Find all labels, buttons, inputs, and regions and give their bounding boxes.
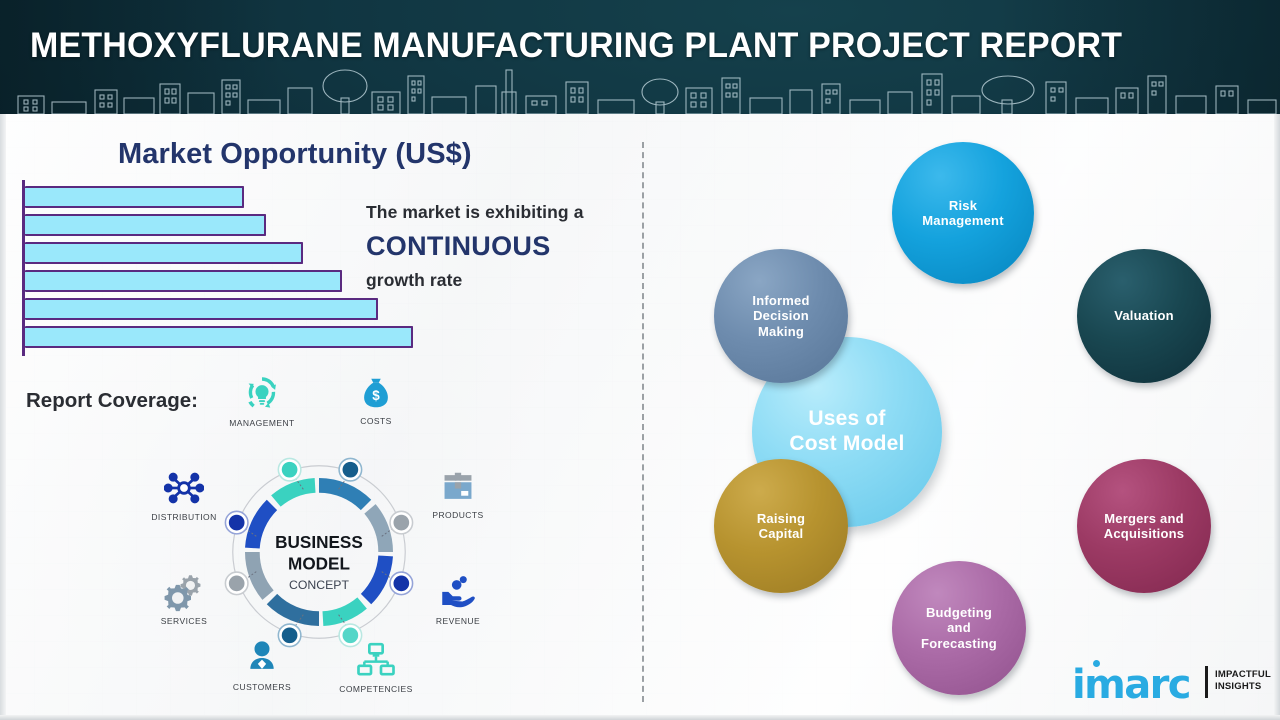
org-network-icon <box>356 640 396 680</box>
coverage-item-revenue[interactable]: REVENUE <box>410 570 506 626</box>
raising-line-1: Raising <box>751 511 811 526</box>
node-raising-capital[interactable]: Raising Capital <box>714 459 848 593</box>
coverage-label-products: PRODUCTS <box>410 510 506 520</box>
center-line-2: Cost Model <box>783 432 910 457</box>
bar-4 <box>25 270 342 292</box>
wheel-center-line-1: BUSINESS <box>275 532 363 552</box>
network-nodes-icon <box>164 468 204 508</box>
bar-3 <box>25 242 303 264</box>
coverage-label-competencies: COMPETENCIES <box>328 684 424 694</box>
content-stage: Market Opportunity (US$) The market is e… <box>0 114 1280 720</box>
blurb-line-3: growth rate <box>366 270 646 291</box>
imarc-tagline: IMPACTFUL INSIGHTS <box>1215 669 1271 693</box>
coverage-label-services: SERVICES <box>136 616 232 626</box>
svg-text:$: $ <box>372 388 380 403</box>
coverage-label-distribution: DISTRIBUTION <box>136 512 232 522</box>
coverage-item-customers[interactable]: CUSTOMERS <box>214 638 310 692</box>
blurb-line-2: CONTINUOUS <box>366 231 646 262</box>
coverage-item-products[interactable]: PRODUCTS <box>410 468 506 520</box>
business-model-wheel: BUSINESS MODEL CONCEPT MANAGEMENT <box>128 372 528 710</box>
coverage-label-revenue: REVENUE <box>410 616 506 626</box>
valuation-line-1: Valuation <box>1108 308 1180 323</box>
coverage-item-services[interactable]: SERVICES <box>136 570 232 626</box>
risk-line-2: Management <box>916 213 1009 228</box>
lightbulb-refresh-icon <box>241 372 283 414</box>
bar-1 <box>25 186 244 208</box>
raising-line-2: Capital <box>751 526 811 541</box>
node-mergers-and-acquisitions[interactable]: Mergers and Acquisitions <box>1077 459 1211 593</box>
imarc-tagline-line-2: INSIGHTS <box>1215 681 1271 693</box>
page-header: METHOXYFLURANE MANUFACTURING PLANT PROJE… <box>0 0 1280 114</box>
coverage-label-management: MANAGEMENT <box>214 418 310 428</box>
mna-line-2: Acquisitions <box>1098 526 1190 541</box>
node-informed-decision-making[interactable]: Informed Decision Making <box>714 249 848 383</box>
node-risk-management[interactable]: Risk Management <box>892 142 1034 284</box>
bar-5 <box>25 298 378 320</box>
imarc-tagline-line-1: IMPACTFUL <box>1215 669 1271 681</box>
gears-icon <box>163 570 205 612</box>
market-opportunity-bar-chart <box>22 180 422 356</box>
coverage-item-competencies[interactable]: COMPETENCIES <box>328 640 424 694</box>
coverage-label-customers: CUSTOMERS <box>214 682 310 692</box>
business-model-wheel-graphic: BUSINESS MODEL CONCEPT <box>221 454 417 650</box>
informed-line-2: Decision <box>746 308 815 323</box>
node-budgeting-and-forecasting[interactable]: Budgeting and Forecasting <box>892 561 1026 695</box>
wheel-center-line-3: CONCEPT <box>289 578 349 592</box>
budget-line-2: and <box>915 620 1003 635</box>
city-skyline-icon <box>0 62 1280 114</box>
hand-coins-icon <box>437 570 479 612</box>
coverage-item-management[interactable]: MANAGEMENT <box>214 372 310 428</box>
imarc-wordmark: imarc <box>1072 662 1190 708</box>
budget-line-1: Budgeting <box>915 605 1003 620</box>
money-bag-icon: $ <box>357 374 395 412</box>
growth-blurb: The market is exhibiting a CONTINUOUS gr… <box>366 202 646 291</box>
imarc-logo[interactable]: imarc IMPACTFUL INSIGHTS <box>1072 660 1268 706</box>
risk-line-1: Risk <box>916 198 1009 213</box>
page-title: METHOXYFLURANE MANUFACTURING PLANT PROJE… <box>30 26 1122 66</box>
wheel-center-line-2: MODEL <box>288 554 350 574</box>
budget-line-3: Forecasting <box>915 636 1003 651</box>
market-opportunity-title: Market Opportunity (US$) <box>118 138 472 171</box>
node-valuation[interactable]: Valuation <box>1077 249 1211 383</box>
coverage-item-costs[interactable]: $ COSTS <box>328 374 424 426</box>
box-package-icon <box>439 468 477 506</box>
bar-6 <box>25 326 413 348</box>
person-user-icon <box>242 638 282 678</box>
coverage-item-distribution[interactable]: DISTRIBUTION <box>136 468 232 522</box>
imarc-logo-divider <box>1205 666 1208 698</box>
coverage-label-costs: COSTS <box>328 416 424 426</box>
informed-line-3: Making <box>746 324 815 339</box>
blurb-line-1: The market is exhibiting a <box>366 202 646 223</box>
informed-line-1: Informed <box>746 293 815 308</box>
center-line-1: Uses of <box>783 407 910 432</box>
left-edge <box>0 114 6 720</box>
uses-of-cost-model-diagram: Uses of Cost Model Risk Management Valua… <box>642 114 1280 720</box>
bar-2 <box>25 214 266 236</box>
mna-line-1: Mergers and <box>1098 511 1190 526</box>
